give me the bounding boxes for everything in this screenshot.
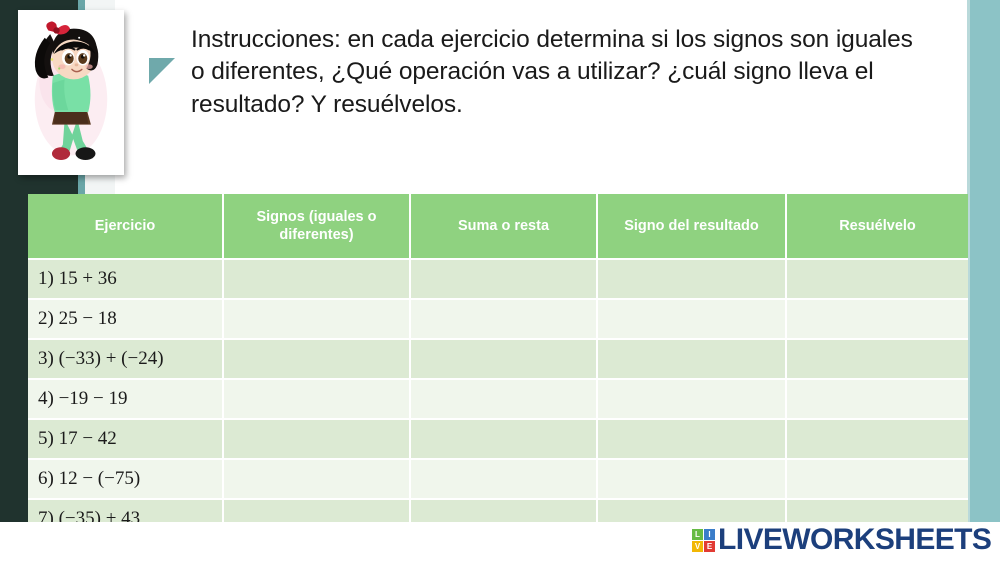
cell-ejercicio: 5) 17 − 42 <box>28 419 223 459</box>
cell-suma-o-resta[interactable] <box>410 379 597 419</box>
character-photo-frame <box>18 10 124 175</box>
exercise-table-container: Ejercicio Signos (iguales o diferentes) … <box>28 194 968 540</box>
cell-resuelvelo[interactable] <box>786 419 968 459</box>
cell-signos[interactable] <box>223 419 410 459</box>
logo-tile-l: L <box>692 529 703 540</box>
exercise-table: Ejercicio Signos (iguales o diferentes) … <box>28 194 968 540</box>
cell-ejercicio: 6) 12 − (−75) <box>28 459 223 499</box>
column-header-signos: Signos (iguales o diferentes) <box>223 194 410 259</box>
cell-suma-o-resta[interactable] <box>410 259 597 299</box>
cell-signos[interactable] <box>223 299 410 339</box>
cell-resuelvelo[interactable] <box>786 299 968 339</box>
column-header-suma-o-resta: Suma o resta <box>410 194 597 259</box>
character-image <box>23 15 119 170</box>
table-row: 6) 12 − (−75) <box>28 459 968 499</box>
cell-signo-resultado[interactable] <box>597 459 786 499</box>
right-teal-bar <box>970 0 1000 522</box>
cell-signos[interactable] <box>223 259 410 299</box>
pointer-triangle-icon <box>149 58 175 84</box>
cell-signo-resultado[interactable] <box>597 339 786 379</box>
liveworksheets-logo[interactable]: L I V E LIVEWORKSHEETS <box>692 523 991 557</box>
cell-signo-resultado[interactable] <box>597 379 786 419</box>
cell-resuelvelo[interactable] <box>786 259 968 299</box>
cell-ejercicio: 3) (−33) + (−24) <box>28 339 223 379</box>
table-row: 2) 25 − 18 <box>28 299 968 339</box>
cell-resuelvelo[interactable] <box>786 459 968 499</box>
table-row: 4) −19 − 19 <box>28 379 968 419</box>
table-row: 3) (−33) + (−24) <box>28 339 968 379</box>
cell-signos[interactable] <box>223 339 410 379</box>
cell-suma-o-resta[interactable] <box>410 339 597 379</box>
logo-wordmark: LIVEWORKSHEETS <box>718 525 991 555</box>
logo-tile-v: V <box>692 541 703 552</box>
cell-ejercicio: 1) 15 + 36 <box>28 259 223 299</box>
column-header-signo-resultado: Signo del resultado <box>597 194 786 259</box>
cell-signos[interactable] <box>223 379 410 419</box>
table-row: 5) 17 − 42 <box>28 419 968 459</box>
character-illustration-icon <box>23 15 119 170</box>
cell-resuelvelo[interactable] <box>786 339 968 379</box>
instructions-text: Instrucciones: en cada ejercicio determi… <box>191 24 921 121</box>
cell-signo-resultado[interactable] <box>597 299 786 339</box>
table-header-row: Ejercicio Signos (iguales o diferentes) … <box>28 194 968 259</box>
logo-tiles-icon: L I V E <box>692 529 715 552</box>
logo-tile-i: I <box>704 529 715 540</box>
cell-ejercicio: 2) 25 − 18 <box>28 299 223 339</box>
cell-resuelvelo[interactable] <box>786 379 968 419</box>
column-header-resuelvelo: Resuélvelo <box>786 194 968 259</box>
cell-signo-resultado[interactable] <box>597 419 786 459</box>
column-header-ejercicio: Ejercicio <box>28 194 223 259</box>
cell-signos[interactable] <box>223 459 410 499</box>
table-row: 1) 15 + 36 <box>28 259 968 299</box>
cell-signo-resultado[interactable] <box>597 259 786 299</box>
cell-suma-o-resta[interactable] <box>410 299 597 339</box>
cell-suma-o-resta[interactable] <box>410 459 597 499</box>
worksheet-page: Instrucciones: en cada ejercicio determi… <box>0 0 1000 562</box>
cell-suma-o-resta[interactable] <box>410 419 597 459</box>
logo-tile-e: E <box>704 541 715 552</box>
cell-ejercicio: 4) −19 − 19 <box>28 379 223 419</box>
